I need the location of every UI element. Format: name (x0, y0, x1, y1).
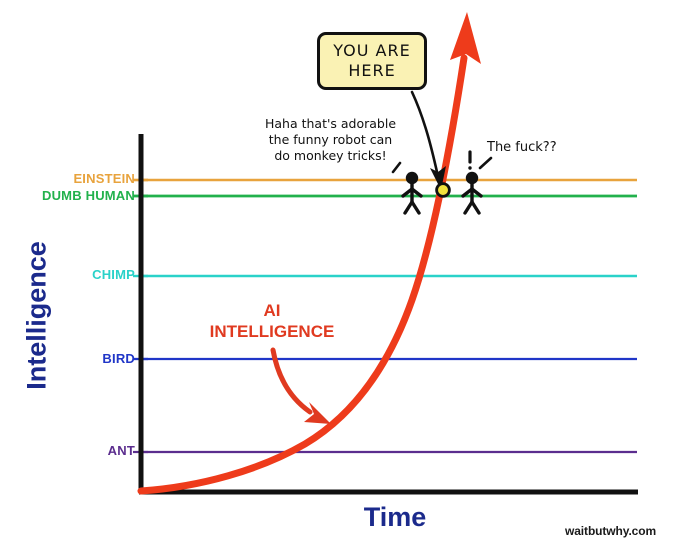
speech-left-line2: the funny robot can (243, 132, 418, 148)
ai-intelligence-label: AI INTELLIGENCE (192, 300, 352, 343)
stick-figure-right (463, 152, 481, 213)
y-axis-title: Intelligence (22, 216, 53, 416)
reference-label-bird: BIRD (102, 352, 135, 365)
chart-canvas: EINSTEIN DUMB HUMAN CHIMP BIRD ANT Intel… (0, 0, 680, 555)
reference-label-ant: ANT (108, 444, 135, 457)
speech-left-line3: do monkey tricks! (243, 148, 418, 164)
speech-tick-right (480, 158, 491, 168)
speech-text-right: The fuck?? (487, 140, 597, 156)
speech-text-left: Haha that's adorable the funny robot can… (243, 116, 418, 164)
ai-intelligence-label-line1: AI (192, 300, 352, 321)
reference-label-dumb-human: DUMB HUMAN (42, 189, 135, 202)
stick-figure-left (403, 172, 421, 213)
you-are-here-callout: YOU ARE HERE (317, 32, 427, 90)
speech-left-line1: Haha that's adorable (243, 116, 418, 132)
you-are-here-dot (437, 184, 450, 197)
reference-label-einstein: EINSTEIN (73, 172, 135, 185)
reference-label-chimp: CHIMP (92, 268, 135, 281)
watermark: waitbutwhy.com (565, 524, 656, 538)
ai-intelligence-label-line2: INTELLIGENCE (192, 321, 352, 342)
speech-tick-left (393, 163, 400, 172)
x-axis-title: Time (330, 502, 460, 533)
you-are-here-line2: HERE (348, 61, 395, 81)
you-are-here-line1: YOU ARE (333, 41, 410, 61)
